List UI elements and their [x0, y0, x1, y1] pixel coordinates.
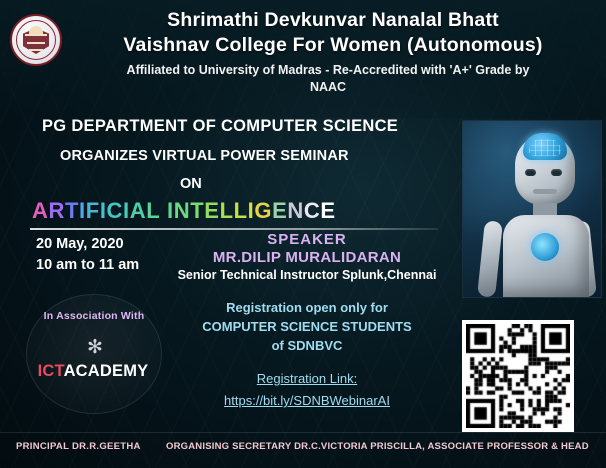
robot-eye-left [525, 169, 536, 176]
topic-letter-4: F [86, 198, 100, 223]
seminar-poster: Shrimathi Devkunvar Nanalal Bhatt Vaishn… [0, 0, 606, 468]
logo-line-3 [29, 49, 43, 51]
logo-dome [29, 26, 43, 34]
ict-academy-suffix: ACADEMY [64, 362, 149, 380]
robot-eye-right [551, 169, 562, 176]
topic-letter-1: R [49, 198, 66, 223]
registration-link-label: Registration Link: [176, 369, 438, 388]
topic-letter-11: I [167, 198, 174, 223]
on-word: ON [180, 176, 202, 192]
speaker-label: SPEAKER [176, 231, 438, 248]
poster-header: Shrimathi Devkunvar Nanalal Bhatt Vaishn… [0, 0, 606, 116]
logo-line-2 [27, 42, 45, 44]
topic-letter-8: A [130, 198, 147, 223]
robot-brain-icon [523, 133, 567, 160]
association-title: In Association With [38, 310, 150, 322]
robot-mouth [533, 189, 557, 194]
footer-principal: PRINCIPAL DR.R.GEETHA [16, 441, 141, 452]
college-name: Shrimathi Devkunvar Nanalal Bhatt Vaishn… [66, 8, 600, 58]
speaker-name: MR.DILIP MURALIDARAN [176, 249, 438, 266]
affiliation-text: Affiliated to University of Madras - Re-… [58, 62, 598, 96]
topic-letter-6: C [107, 198, 124, 223]
topic-letter-7: I [123, 198, 130, 223]
registration-line2: COMPUTER SCIENCE STUDENTS [176, 317, 438, 336]
qr-canvas [466, 324, 570, 428]
seminar-time: 10 am to 11 am [36, 255, 139, 276]
ict-academy-prefix: ICT [38, 362, 64, 380]
robot-chest-light [531, 233, 559, 261]
footer-divider [0, 432, 606, 433]
registration-url-link[interactable]: https://bit.ly/SDNBWebinarAI [176, 391, 438, 410]
topic-letter-15: L [220, 198, 234, 223]
divider-rule [30, 228, 438, 230]
topic-letter-12: N [174, 198, 191, 223]
college-name-line2: Vaishnav College For Women (Autonomous) [66, 33, 600, 58]
topic-letter-21: C [304, 198, 321, 223]
footer-organising-secretary: ORGANISING SECRETARY DR.C.VICTORIA PRISC… [166, 441, 589, 452]
topic-letter-5: I [100, 198, 107, 223]
seminar-topic: ARTIFICIAL INTELLIGENCE [32, 198, 336, 224]
registration-line3: of SDNBVC [176, 336, 438, 355]
speaker-block: SPEAKER MR.DILIP MURALIDARAN Senior Tech… [176, 231, 438, 282]
affiliation-line2: NAAC [58, 79, 598, 96]
date-time-block: 20 May, 2020 10 am to 11 am [36, 234, 139, 276]
topic-letter-20: N [287, 198, 304, 223]
registration-line1: Registration open only for [176, 298, 438, 317]
college-name-line1: Shrimathi Devkunvar Nanalal Bhatt [66, 8, 600, 33]
topic-letter-19: E [272, 198, 287, 223]
topic-letter-16: L [234, 198, 248, 223]
topic-letter-0: A [32, 198, 49, 223]
organizes-text: ORGANIZES VIRTUAL POWER SEMINAR [60, 148, 349, 164]
seminar-date: 20 May, 2020 [36, 234, 139, 255]
affiliation-line1: Affiliated to University of Madras - Re-… [58, 62, 598, 79]
topic-letter-9: L [146, 198, 160, 223]
topic-letter-2: T [65, 198, 79, 223]
speaker-designation: Senior Technical Instructor Splunk,Chenn… [176, 268, 438, 282]
topic-letter-3: I [79, 198, 86, 223]
logo-line-1 [25, 34, 47, 36]
ai-robot-illustration [462, 120, 602, 298]
registration-block: Registration open only for COMPUTER SCIE… [176, 298, 438, 410]
flower-icon: ✻ [85, 338, 105, 358]
topic-letter-14: E [204, 198, 219, 223]
topic-letter-22: E [320, 198, 335, 223]
topic-letter-13: T [190, 198, 204, 223]
registration-qr-code[interactable] [462, 320, 574, 432]
topic-letter-18: G [254, 198, 272, 223]
topic-letter-10 [160, 198, 167, 223]
ict-academy-logo: ICTACADEMY [30, 362, 156, 381]
college-crest-logo [10, 14, 62, 66]
department-title: PG DEPARTMENT OF COMPUTER SCIENCE [42, 117, 398, 136]
